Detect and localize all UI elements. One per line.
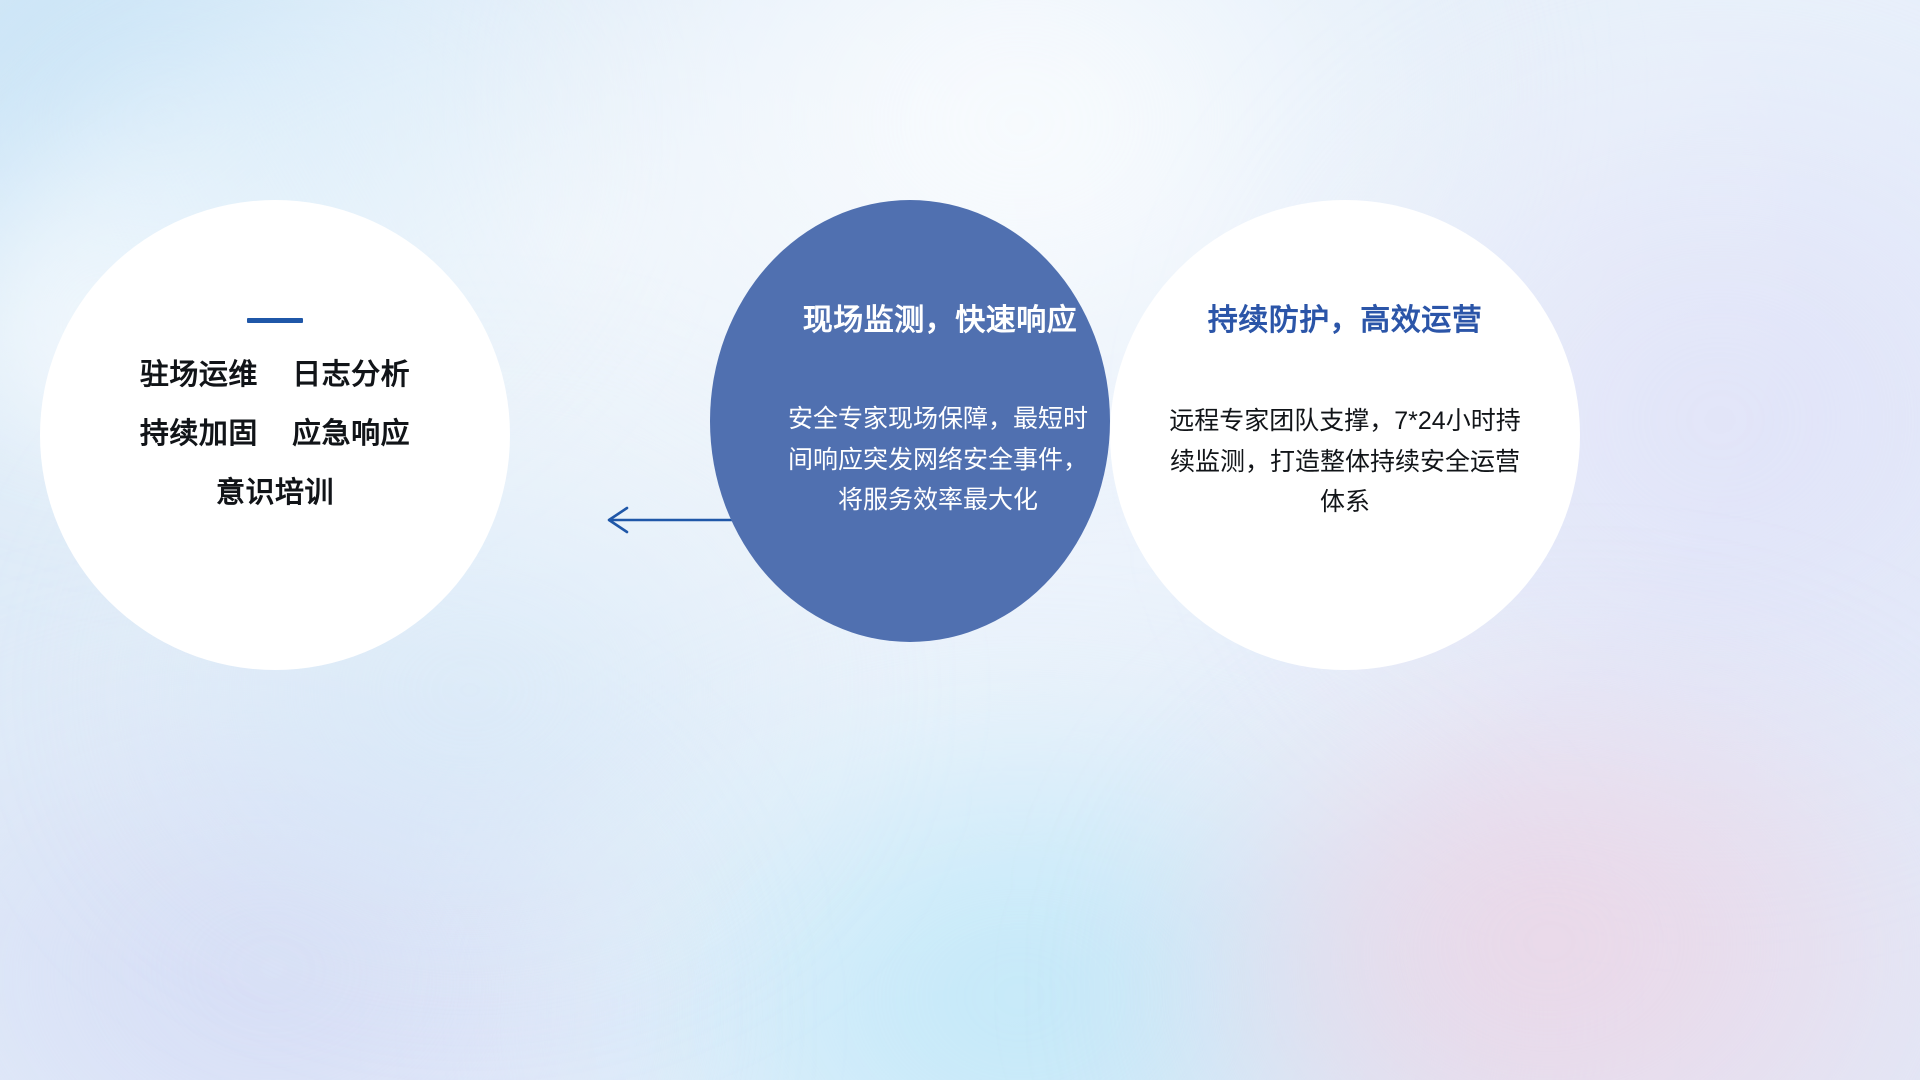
right-card-title: 持续防护，高效运营 (1208, 295, 1483, 339)
capability-line-2: 持续加固 应急响应 (140, 420, 410, 449)
right-service-circle[interactable]: 持续防护，高效运营 远程专家团队支撑，7*24小时持续监测，打造整体持续安全运营… (1110, 200, 1580, 670)
capability-line-3: 意识培训 (216, 479, 334, 508)
left-capability-circle[interactable]: 驻场运维 日志分析 持续加固 应急响应 意识培训 (40, 200, 510, 670)
right-card-body: 远程专家团队支撑，7*24小时持续监测，打造整体持续安全运营体系 (1160, 401, 1530, 523)
middle-card-title: 现场监测，快速响应 (803, 295, 1078, 339)
title-divider (247, 318, 303, 323)
capability-line-1: 驻场运维 日志分析 (140, 361, 410, 390)
middle-card-body: 安全专家现场保障，最短时间响应突发网络安全事件，将服务效率最大化 (783, 399, 1093, 521)
slide-canvas: 驻场运维 日志分析 持续加固 应急响应 意识培训 现场监测，快速响应 安全专家现… (0, 0, 1920, 1080)
middle-service-circle[interactable]: 现场监测，快速响应 安全专家现场保障，最短时间响应突发网络安全事件，将服务效率最… (710, 200, 1110, 642)
